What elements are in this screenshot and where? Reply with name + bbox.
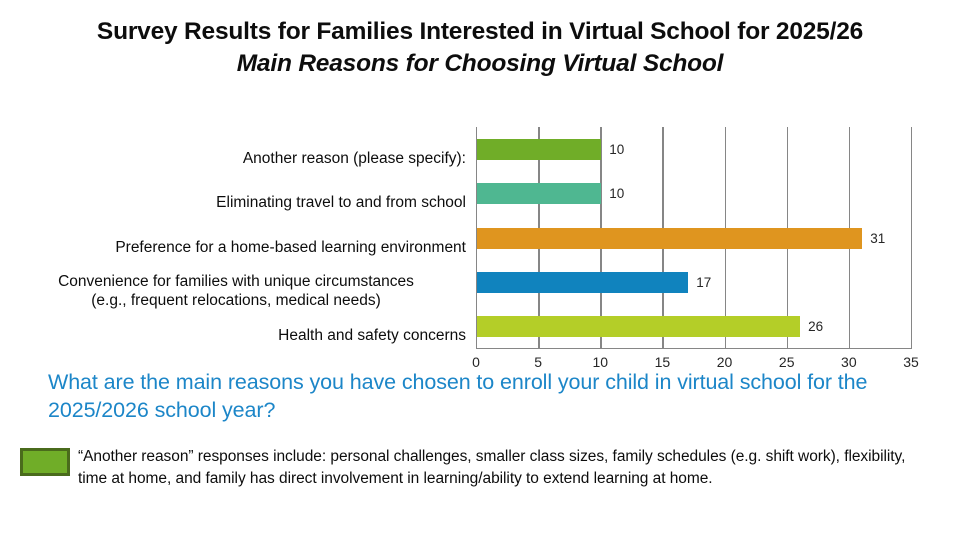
category-label-line: Another reason (please specify): (6, 149, 466, 168)
plot-area: 1010311726 (476, 127, 911, 349)
title-line-1: Survey Results for Families Interested i… (0, 18, 960, 47)
bar[interactable] (477, 228, 862, 249)
category-axis-line (476, 348, 911, 349)
bar-chart: Another reason (please specify):Eliminat… (0, 118, 960, 368)
another-reason-color-swatch (20, 448, 70, 476)
bar-value-label: 10 (609, 183, 624, 204)
bar-value-label: 17 (696, 272, 711, 293)
category-label: Preference for a home-based learning env… (6, 238, 466, 257)
category-label-line: (e.g., frequent relocations, medical nee… (6, 291, 466, 310)
category-label-line: Health and safety concerns (6, 326, 466, 345)
category-label: Convenience for families with unique cir… (6, 272, 466, 310)
category-label: Health and safety concerns (6, 326, 466, 345)
bar[interactable] (477, 183, 601, 204)
category-label: Eliminating travel to and from school (6, 193, 466, 212)
bar-value-label: 31 (870, 228, 885, 249)
bar-value-label: 10 (609, 139, 624, 160)
bar[interactable] (477, 316, 800, 337)
category-label: Another reason (please specify): (6, 149, 466, 168)
bar[interactable] (477, 139, 601, 160)
title-line-2: Main Reasons for Choosing Virtual School (0, 49, 960, 78)
footnote-text: “Another reason” responses include: pers… (78, 446, 938, 490)
category-label-line: Convenience for families with unique cir… (6, 272, 466, 291)
category-label-line: Preference for a home-based learning env… (6, 238, 466, 257)
category-axis-labels: Another reason (please specify):Eliminat… (0, 127, 466, 349)
category-label-line: Eliminating travel to and from school (6, 193, 466, 212)
page-title: Survey Results for Families Interested i… (0, 18, 960, 78)
bar-value-label: 26 (808, 316, 823, 337)
bar[interactable] (477, 272, 688, 293)
survey-question-text: What are the main reasons you have chose… (48, 368, 946, 425)
gridline (911, 127, 912, 349)
